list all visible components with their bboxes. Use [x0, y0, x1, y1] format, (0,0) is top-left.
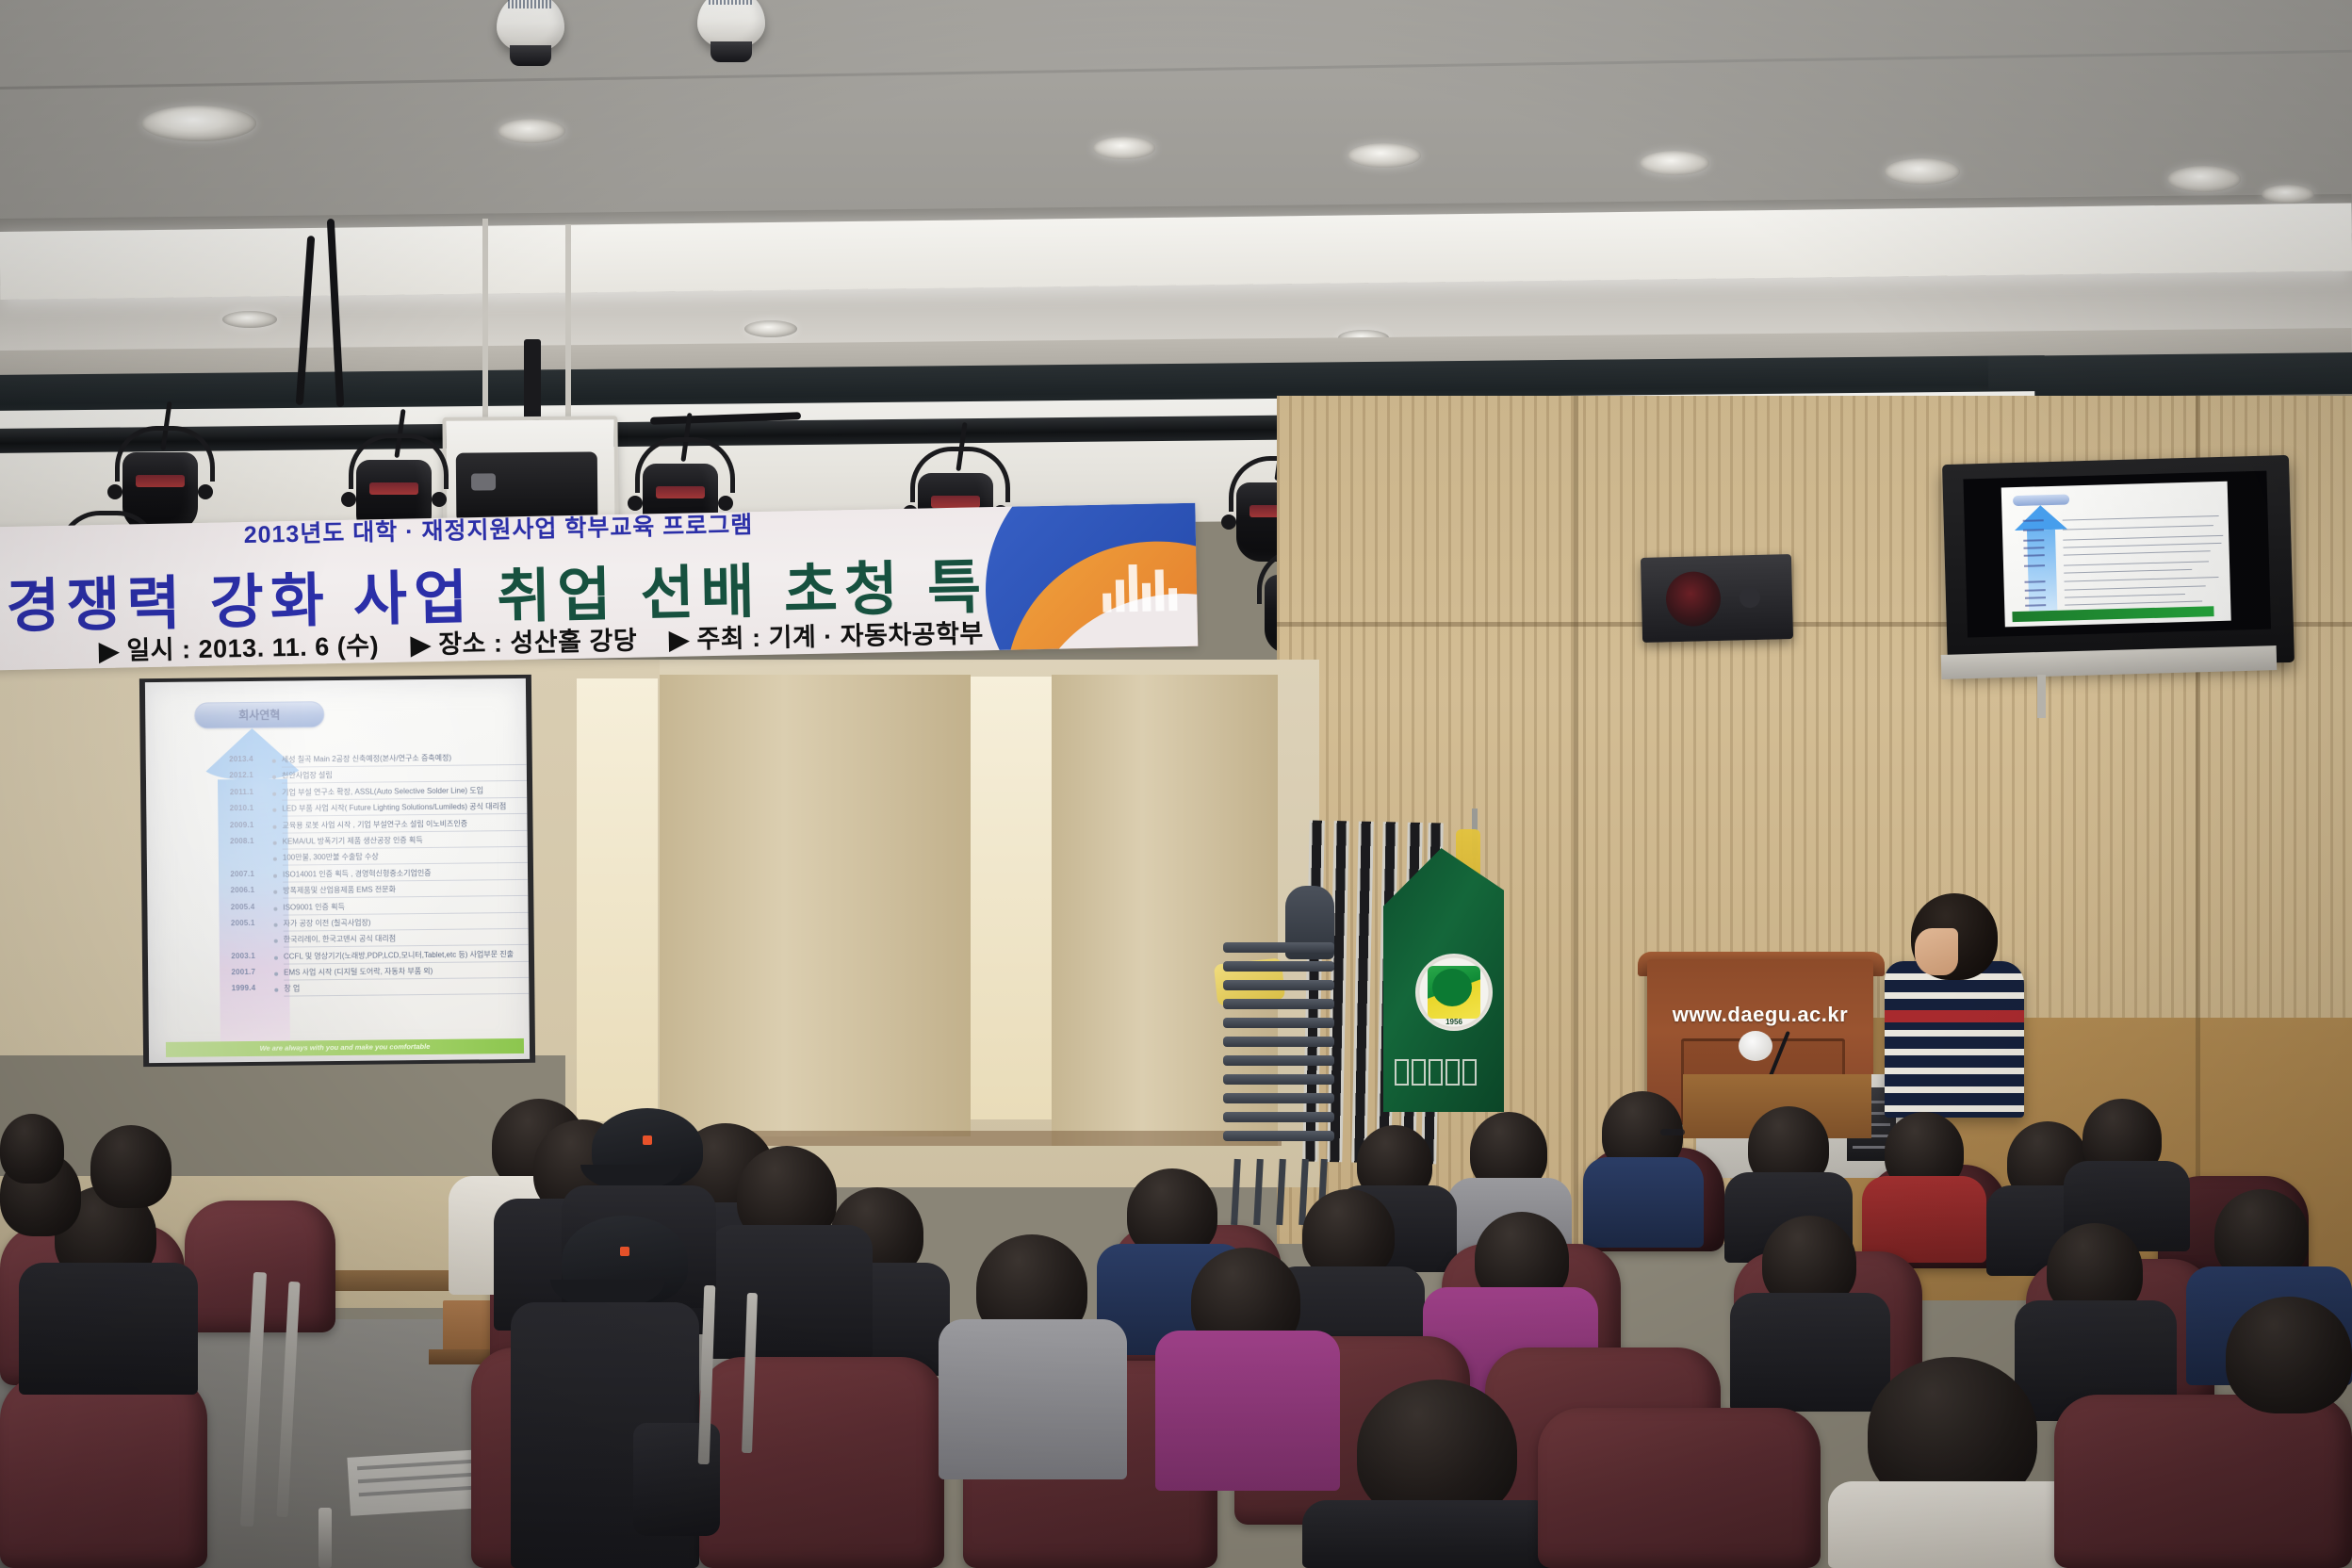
slide-row-text: 세성 칠곡 Main 2공장 신축예정(본사/연구소 증축예정) [282, 751, 530, 767]
partition-panel [1351, 822, 1374, 1163]
banner-bar-graphic [1102, 594, 1111, 612]
flag-wordmark-letter [1429, 1059, 1443, 1086]
slide-row-bullet-icon [272, 808, 276, 812]
slide-row-bullet-icon [274, 923, 278, 927]
downlight-icon [1347, 143, 1421, 168]
downlight-icon [1885, 158, 1960, 185]
slide-row-text: 한국리레이, 한국고덴시 공식 대리점 [284, 931, 530, 947]
banner-bar-graphic [1155, 569, 1165, 611]
slide-row-text: CCFL 및 영상기기(노래방,PDP,LCD,모니터,Tablet,etc 등… [284, 948, 530, 964]
slide-title-badge: 회사연혁 [194, 701, 324, 728]
slide-row-year: 2012.1 [204, 771, 253, 780]
downlight-icon [1093, 137, 1155, 159]
stacked-chair-seat [1223, 980, 1334, 990]
audience-torso [1730, 1293, 1890, 1412]
stacked-chair-seat [1223, 1112, 1334, 1122]
audience-torso [709, 1225, 873, 1359]
banner-host-value: 기계 · 자동차공학부 [768, 619, 984, 652]
audience-head [2226, 1297, 2352, 1413]
slide-row-bullet-icon [274, 972, 278, 976]
slide-row-year: 2009.1 [204, 820, 253, 829]
flag-wordmark-letter [1445, 1059, 1460, 1086]
auditorium-photo: 회사연혁 2013.4세성 칠곡 Main 2공장 신축예정(본사/연구소 증축… [0, 0, 2352, 1568]
seat-armrest-rail [318, 1508, 332, 1568]
slide-row-text: EMS 사업 시작 (디지털 도어락, 자동차 부품 외) [284, 964, 530, 980]
slide-row-bullet-icon [274, 939, 278, 943]
banner-date-value: 2013. 11. 6 (수) [198, 631, 379, 663]
slide-row-year: 2005.1 [206, 919, 255, 928]
audience-torso [19, 1263, 198, 1395]
slide-timeline-row: 1999.4창 업 [206, 981, 527, 1001]
tv-slide-mirror [2001, 482, 2231, 628]
slide-row-year [205, 853, 254, 854]
banner-place-label: 장소 : [438, 629, 503, 659]
wall-light-panel [971, 677, 1052, 1119]
downlight-icon [1640, 151, 1709, 175]
slide-row-bullet-icon [273, 890, 277, 894]
slide-footer-text: We are always with you and make you comf… [166, 1038, 524, 1057]
tv-bracket-pole [2037, 675, 2046, 718]
slide-row-year [206, 935, 255, 936]
stacked-chair-seat [1223, 1074, 1334, 1085]
wall-light-panel [577, 678, 658, 1121]
audience-torso [1155, 1331, 1340, 1491]
slide-row-bullet-icon [273, 857, 277, 861]
podium-url-text: www.daegu.ac.kr [1647, 1003, 1873, 1027]
audience-torso [1302, 1500, 1559, 1568]
audience-torso [939, 1319, 1127, 1479]
downlight-icon [2262, 185, 2314, 204]
slide-footer-bar: We are always with you and make you comf… [166, 1038, 524, 1057]
stacked-chairs [1223, 942, 1342, 1178]
wall-seam [1574, 396, 1578, 1244]
banner-bar-graphic [1142, 583, 1151, 612]
wall-television [1942, 455, 2295, 672]
banner-decoration [965, 503, 1198, 651]
downlight-icon [498, 119, 565, 143]
slide-row-bullet-icon [272, 825, 276, 828]
dark-beam-right [1988, 352, 2352, 398]
presenter-torso [1885, 961, 2024, 1118]
stacked-chair-seat [1223, 1093, 1334, 1103]
slide-row-text: LED 부품 사업 시작( Future Lighting Solutions/… [282, 800, 530, 816]
slide-row-year: 2010.1 [204, 804, 253, 813]
flag-emblem-year: 1956 [1415, 1018, 1493, 1026]
glasses-icon [1660, 1129, 1685, 1135]
seat [1538, 1408, 1821, 1568]
bullet-triangle-icon: ▶ [99, 637, 120, 665]
slide-row-bullet-icon [272, 776, 276, 779]
banner-bar-graphic [1116, 580, 1125, 612]
banner-host-label: 주최 : [696, 624, 761, 653]
banner-bar-graphic [1129, 564, 1138, 612]
slide-row-text: 방폭제품및 산업용제품 EMS 전문화 [283, 882, 530, 898]
slide-row-year: 2011.1 [204, 788, 253, 797]
slide-row-bullet-icon [273, 841, 277, 845]
downlight-icon [744, 320, 797, 337]
flag-wordmark-letter [1412, 1059, 1426, 1086]
banner-place-value: 성산홀 강당 [510, 627, 637, 658]
wall-speaker-icon [1641, 554, 1793, 643]
slide-row-text: KEMA/UL 방폭기기 제품 생산공장 인증 획득 [283, 833, 530, 849]
stacked-chair-seat [1223, 961, 1334, 972]
stacked-chair-seat [1223, 1037, 1334, 1047]
chair-leg [1231, 1159, 1241, 1225]
downlight-icon [141, 106, 256, 141]
flag-wordmark-letter [1462, 1059, 1477, 1086]
slide-row-year: 2005.4 [205, 902, 254, 911]
wall-column [660, 675, 971, 1136]
projector-hanger [565, 224, 571, 420]
slide-row-bullet-icon [273, 874, 277, 877]
slide-row-year: 2008.1 [205, 837, 254, 846]
audience-torso [1862, 1176, 1986, 1263]
ceiling-speaker-icon [497, 0, 564, 53]
presenter-face [1915, 928, 1958, 975]
stacked-chair-seat [1223, 999, 1334, 1009]
slide-row-bullet-icon [274, 955, 278, 959]
audience-head [90, 1125, 171, 1208]
slide-row-year: 1999.4 [206, 984, 255, 993]
bullet-triangle-icon: ▶ [669, 626, 690, 654]
slide-row-year: 2001.7 [206, 968, 255, 977]
slide-row-bullet-icon [274, 988, 278, 992]
seat [2054, 1395, 2352, 1568]
slide-row-text: 100만불, 300만불 수출탑 수상 [283, 850, 530, 866]
slide-row-text: ISO9001 인증 획득 [283, 899, 530, 915]
stacked-chair-seat [1223, 1131, 1334, 1141]
downlight-icon [2167, 166, 2241, 192]
audience-head [0, 1114, 64, 1184]
stacked-chair-seat [1223, 1055, 1334, 1066]
slide-timeline-rows: 2013.4세성 칠곡 Main 2공장 신축예정(본사/연구소 증축예정)20… [204, 752, 528, 1001]
projector-hanger [482, 219, 488, 420]
chair-leg [1276, 1159, 1286, 1225]
downlight-icon [222, 311, 277, 328]
slide-row-bullet-icon [273, 906, 277, 910]
audience-torso [1828, 1481, 2082, 1568]
bullet-triangle-icon: ▶ [411, 630, 432, 659]
chair-leg [1253, 1159, 1264, 1225]
ceiling-speaker-icon [697, 0, 765, 49]
seat [699, 1357, 944, 1568]
flag-wordmark-letter [1395, 1059, 1409, 1086]
projector-mount [524, 339, 541, 420]
stacked-chair-seat [1223, 942, 1334, 953]
event-banner: 2013년도 대학 · 재정지원사업 학부교육 프로그램 업 경쟁력 강화 사업… [0, 503, 1198, 671]
seat [0, 1376, 207, 1568]
slide-row-text: 창 업 [284, 981, 530, 997]
audience-torso [1583, 1157, 1704, 1248]
banner-date-label: 일시 : [126, 635, 191, 664]
slide-row-year: 2013.4 [204, 755, 253, 764]
slide-title-text: 회사연혁 [195, 702, 323, 727]
slide-row-text: 기업 부설 연구소 확장, ASSL(Auto Selective Solder… [282, 784, 530, 800]
slide-row-bullet-icon [272, 759, 276, 763]
presentation-slide: 회사연혁 2013.4세성 칠곡 Main 2공장 신축예정(본사/연구소 증축… [145, 678, 530, 1063]
slide-row-text: 자가 공장 이전 (칠곡사업장) [284, 915, 531, 931]
slide-row-text: 교육용 로봇 사업 시작 , 기업 부설연구소 설립 이노비즈인증 [282, 817, 530, 833]
slide-row-text: 천안사업장 설립 [282, 768, 530, 784]
slide-row-year: 2006.1 [205, 886, 254, 895]
projection-screen: 회사연혁 2013.4세성 칠곡 Main 2공장 신축예정(본사/연구소 증축… [145, 678, 530, 1063]
microphone-icon [1739, 1031, 1772, 1061]
slide-row-bullet-icon [272, 792, 276, 795]
slide-row-text: ISO14001 인증 획득 , 경영혁신형중소기업인증 [283, 866, 530, 882]
banner-bar-graphic [1168, 588, 1177, 611]
flag-emblem: 1956 [1415, 954, 1493, 1031]
stacked-chair-seat [1223, 1018, 1334, 1028]
slide-row-year: 2007.1 [205, 870, 254, 879]
slide-row-year: 2003.1 [206, 952, 255, 961]
